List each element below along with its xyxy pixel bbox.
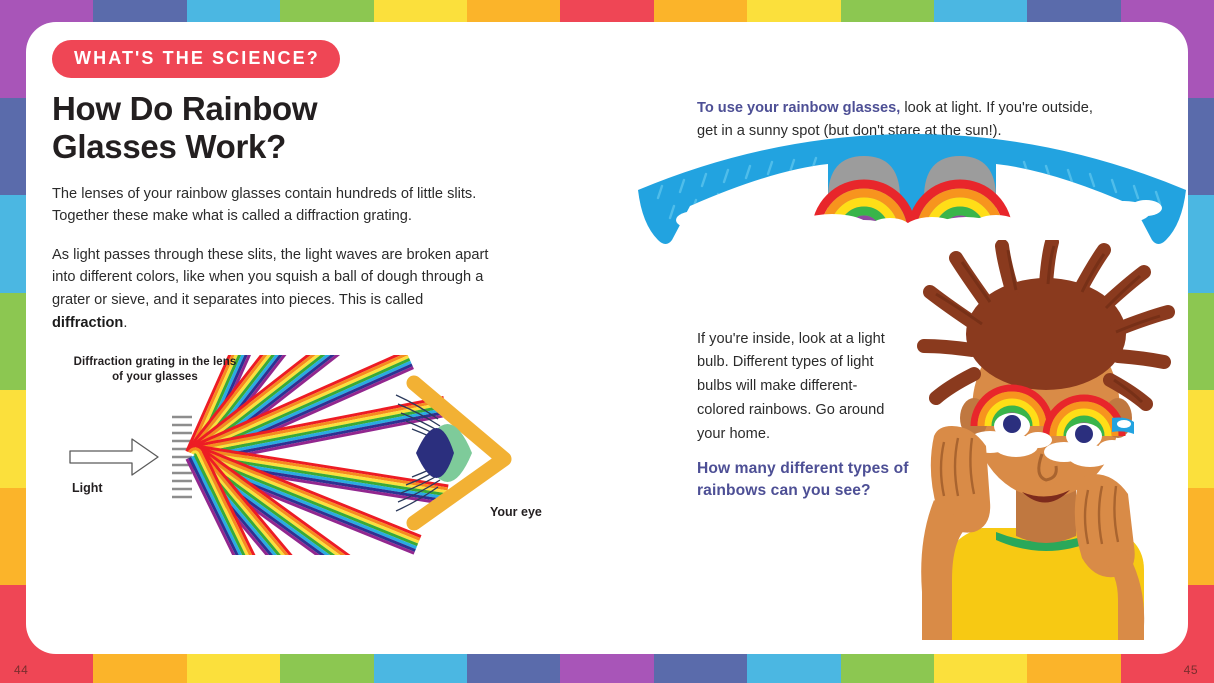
right-page-intro-lead: To use your rainbow glasses, [697,100,900,116]
temple-cloud [1117,420,1131,428]
paragraph-diffraction: As light passes through these slits, the… [52,244,492,334]
paragraph-diffraction-text-a: As light passes through these slits, the… [52,247,488,308]
page-title: How Do Rainbow Glasses Work? [52,90,382,167]
child-illustration-svg [912,240,1188,640]
diffraction-diagram-svg [62,355,562,555]
hair [924,242,1168,404]
rainbow-glasses-svg [632,128,1192,258]
book-spread: 44 45 WHAT'S THE SCIENCE? How Do Rainbow… [0,0,1214,683]
right-page-question: How many different types of rainbows can… [697,458,912,502]
child-illustration [912,240,1188,640]
paragraph-diffraction-text-b: . [123,315,127,331]
section-badge: WHAT'S THE SCIENCE? [52,40,340,78]
page-number-left: 44 [14,663,28,677]
term-diffraction: diffraction [52,315,123,331]
your-eye-label: Your eye [490,505,542,519]
light-label: Light [72,481,103,495]
paragraph-intro: The lenses of your rainbow glasses conta… [52,183,492,228]
diffraction-grating-icon [172,417,192,497]
diffraction-figure-caption: Diffraction grating in the lens of your … [70,355,240,385]
pupil-right [1075,425,1093,443]
light-arrow-icon [70,439,158,475]
right-page-indoor-text: If you're inside, look at a light bulb. … [697,328,897,447]
pupil-left [1003,415,1021,433]
page-number-right: 45 [1184,663,1198,677]
diffraction-figure: Diffraction grating in the lens of your … [62,355,562,555]
rainbow-glasses-illustration [632,128,1192,258]
